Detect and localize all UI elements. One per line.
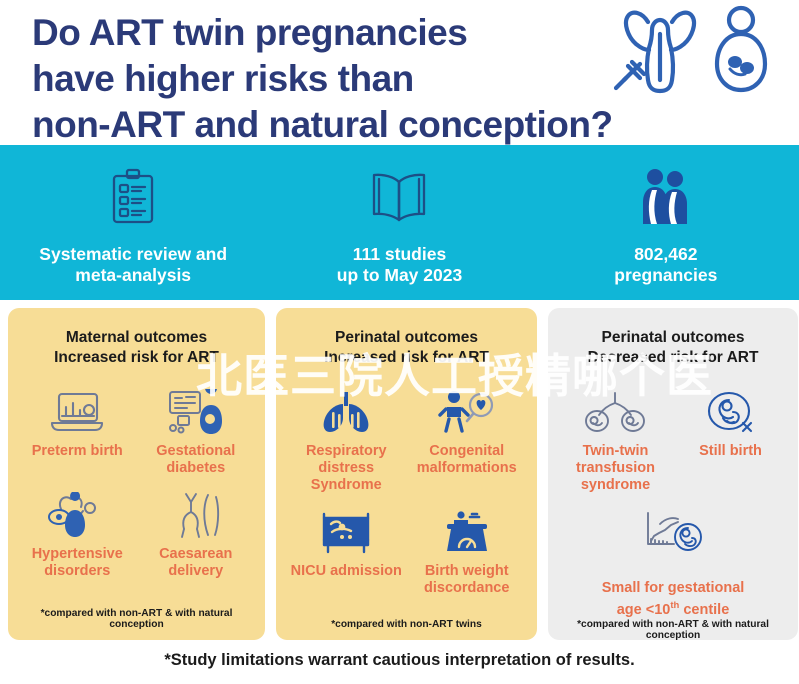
stats-band: Systematic review and meta-analysis 111 … [0,145,799,300]
outcome-item: Preterm birth [18,374,137,477]
stat-label: 111 studies up to May 2023 [337,244,462,286]
outcome-item: Congenital malformations [406,374,526,494]
outcome-label-sup: th [670,600,679,611]
header: Do ART twin pregnancies have higher risk… [0,0,799,145]
open-book-icon [370,166,428,228]
card-title: Perinatal outcomes Decreased risk for AR… [558,328,788,368]
page-title: Do ART twin pregnancies have higher risk… [32,6,612,148]
outcome-item: Still birth [673,374,788,494]
outcome-label-post: centile [679,602,729,618]
card-title: Perinatal outcomes Increased risk for AR… [286,328,527,368]
outcome-item: Caesarean delivery [137,477,256,580]
outcome-item: Small for gestational age <10th centile [558,494,788,619]
outcome-label: Small for gestational age <10th centile [602,563,745,619]
two-pregnant-people-icon [639,166,693,228]
card-items: Preterm birth [18,374,255,608]
glucose-monitor-pregnant-icon [167,388,225,436]
outcome-label: Caesarean delivery [159,546,232,580]
card-note: *compared with non-ART & with natural co… [558,619,788,643]
outcome-item: Birth weight discordance [406,494,526,597]
outcome-label: Respiratory distress Syndrome [286,443,406,494]
title-line-2: have higher risks than [32,56,612,102]
outcome-item: Twin-twin transfusion syndrome [558,374,673,494]
card-perinatal-outcomes-decreased: Perinatal outcomes Decreased risk for AR… [548,308,798,640]
outcome-item: NICU admission [286,494,406,597]
caesarean-incision-icon [170,491,222,539]
clipboard-checklist-icon [110,166,156,228]
card-note: *compared with non-ART & with natural co… [18,608,255,632]
footer: *Study limitations warrant cautious inte… [0,640,799,681]
stat-studies-count: 111 studies up to May 2023 [266,160,532,286]
fetus-cross-icon [705,388,757,436]
card-maternal-outcomes-increased: Maternal outcomes Increased risk for ART… [8,308,265,640]
twin-fetuses-shared-placenta-icon [584,388,646,436]
header-icon-group [602,4,777,104]
blood-pressure-pregnant-icon [47,491,107,539]
outcome-label: Congenital malformations [417,443,517,477]
card-items: Respiratory distress Syndrome [286,374,527,619]
card-note: *compared with non-ART twins [286,619,527,632]
outcome-item: Respiratory distress Syndrome [286,374,406,494]
growth-chart-fetus-icon [640,508,706,556]
outcome-cards: Maternal outcomes Increased risk for ART… [0,300,799,640]
stat-label: Systematic review and meta-analysis [39,244,227,286]
card-perinatal-outcomes-increased: Perinatal outcomes Increased risk for AR… [276,308,537,640]
outcome-item: Gestational diabetes [137,374,256,477]
uterus-syringe-icon [602,4,706,101]
infographic-page: Do ART twin pregnancies have higher risk… [0,0,799,684]
outcome-label: NICU admission [291,563,402,580]
lungs-icon [320,388,372,436]
baby-weighing-scale-icon [441,508,493,556]
stat-pregnancies-count: 802,462 pregnancies [533,160,799,286]
pregnant-woman-twins-icon [712,4,770,101]
outcome-label: Birth weight discordance [424,563,509,597]
title-line-1: Do ART twin pregnancies [32,10,612,56]
card-title: Maternal outcomes Increased risk for ART [18,328,255,368]
outcome-label: Preterm birth [32,443,123,460]
outcome-item: Hypertensive disorders [18,477,137,580]
outcome-label: Twin-twin transfusion syndrome [576,443,655,494]
outcome-label: Gestational diabetes [156,443,235,477]
laptop-chart-icon [49,388,105,436]
outcome-label: Hypertensive disorders [32,546,123,580]
baby-magnifier-heart-icon [438,388,496,436]
outcome-label: Still birth [699,443,762,460]
footer-disclaimer: *Study limitations warrant cautious inte… [164,651,634,670]
stat-systematic-review: Systematic review and meta-analysis [0,160,266,286]
incubator-baby-icon [318,508,374,556]
stat-label: 802,462 pregnancies [614,244,717,286]
card-items: Twin-twin transfusion syndrome St [558,374,788,619]
title-line-3: non-ART and natural conception? [32,102,612,148]
